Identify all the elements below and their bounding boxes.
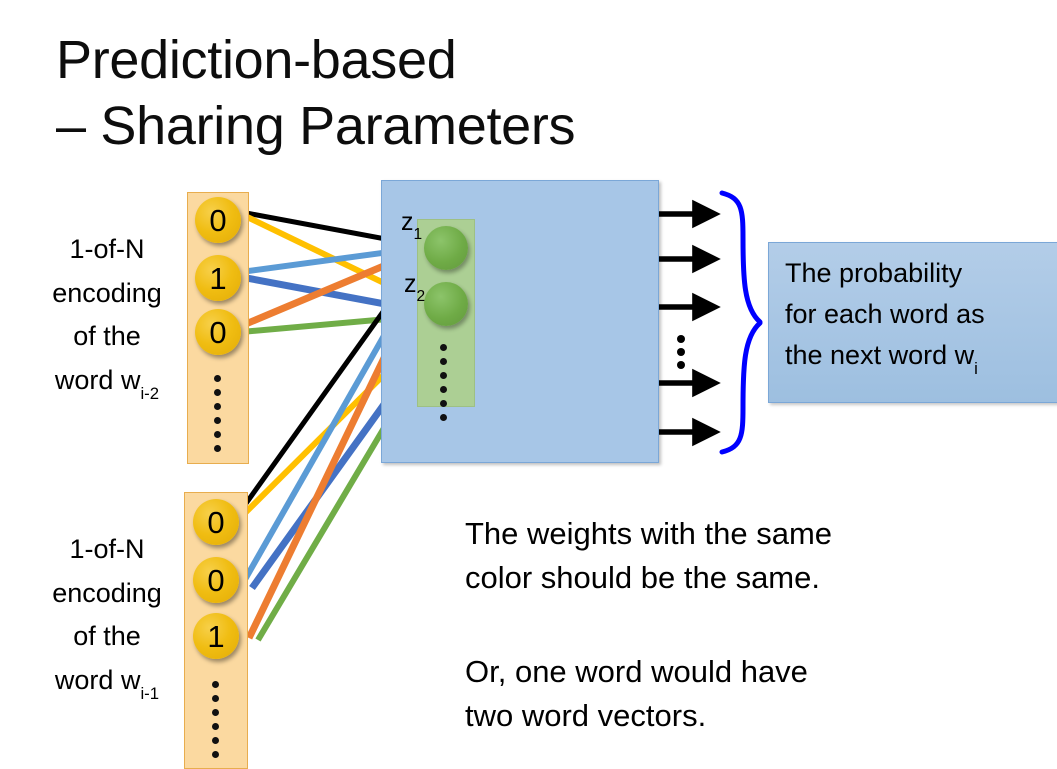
z-subscript: 1 [414, 226, 423, 243]
prob-word-text: the next word w [785, 340, 974, 370]
note-line: two word vectors. [465, 694, 808, 738]
page-title: Prediction-based – Sharing Parameters [56, 28, 756, 160]
hidden-layer-panel [417, 219, 475, 407]
caption-line: 1-of-N [22, 228, 192, 272]
hidden-node-z1 [424, 226, 468, 270]
caption-line: encoding [22, 572, 192, 616]
onehot-bit: 1 [195, 255, 241, 301]
title-line-1: Prediction-based [56, 30, 456, 90]
caption-line: encoding [22, 272, 192, 316]
note-line: Or, one word would have [465, 650, 808, 694]
caption-word-i-1: 1-of-N encoding of the word wi-1 [22, 528, 192, 703]
onehot-ellipsis [214, 375, 221, 452]
caption-line-word: word wi-2 [22, 359, 192, 403]
caption-word-text: word w [55, 665, 141, 695]
note-line: The weights with the same [465, 512, 832, 556]
z-subscript: 2 [417, 288, 426, 305]
onehot-vector-word-i-2: 0 1 0 [187, 192, 249, 464]
hidden-node-label-z2: z2 [404, 272, 425, 297]
hidden-node-z2 [424, 282, 468, 326]
output-ellipsis-dot [677, 348, 685, 356]
output-ellipsis-dot [677, 361, 685, 369]
caption-subscript: i-2 [140, 384, 159, 403]
z-letter: z [401, 208, 414, 236]
hidden-node-label-z1: z1 [401, 210, 422, 235]
caption-subscript: i-1 [140, 684, 159, 703]
onehot-bit: 0 [193, 557, 239, 603]
probability-callout-box: The probability for each word as the nex… [768, 242, 1057, 403]
note-line: color should be the same. [465, 556, 832, 600]
output-arrows [658, 214, 712, 432]
prob-line-word: the next word wi [785, 335, 1057, 376]
onehot-vector-word-i-1: 0 0 1 [184, 492, 248, 769]
onehot-bit: 0 [195, 309, 241, 355]
z-letter: z [404, 270, 417, 298]
caption-line-word: word wi-1 [22, 659, 192, 703]
slide-canvas: Prediction-based – Sharing Parameters [0, 0, 1057, 765]
prob-line: The probability [785, 253, 1057, 294]
caption-line: of the [22, 315, 192, 359]
output-ellipsis-dot [677, 335, 685, 343]
prob-line: for each word as [785, 294, 1057, 335]
note-shared-weights: The weights with the same color should b… [465, 512, 832, 600]
onehot-bit: 1 [193, 613, 239, 659]
note-two-word-vectors: Or, one word would have two word vectors… [465, 650, 808, 738]
hidden-layer-ellipsis [440, 344, 447, 421]
onehot-ellipsis [212, 681, 219, 758]
title-line-2: – Sharing Parameters [56, 94, 756, 160]
caption-word-text: word w [55, 365, 141, 395]
prob-subscript: i [974, 359, 978, 378]
caption-line: of the [22, 615, 192, 659]
onehot-bit: 0 [195, 197, 241, 243]
right-curly-brace-icon [722, 193, 760, 452]
caption-line: 1-of-N [22, 528, 192, 572]
onehot-bit: 0 [193, 499, 239, 545]
caption-word-i-2: 1-of-N encoding of the word wi-2 [22, 228, 192, 403]
